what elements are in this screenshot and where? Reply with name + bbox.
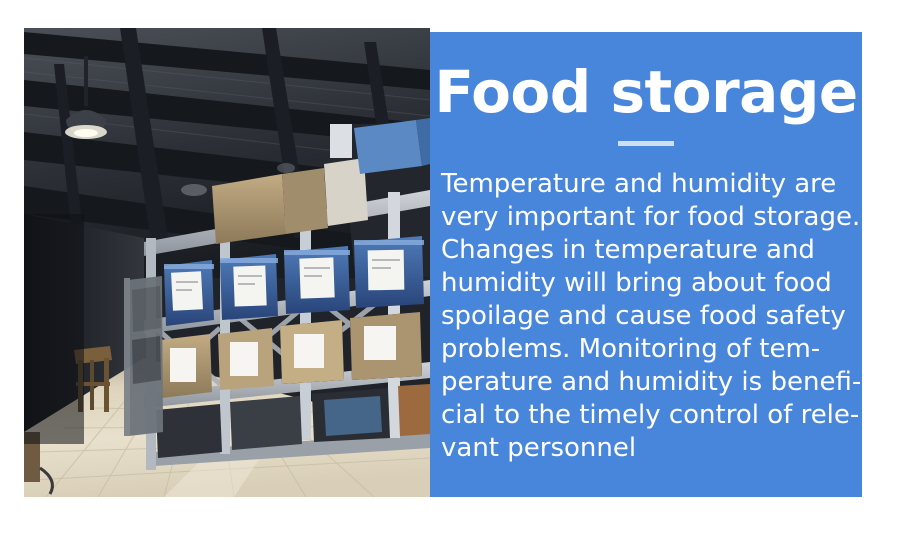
info-panel: Food storage Temperature and humidity ar…	[430, 32, 862, 497]
description-text: Temperature and humidity are very import…	[441, 168, 865, 465]
page-title: Food storage	[430, 62, 862, 123]
photo-illustration	[24, 28, 430, 497]
title-divider	[618, 141, 674, 146]
banner-canvas: Food storage Temperature and humidity ar…	[0, 0, 900, 534]
warehouse-interior-shelving-photo	[24, 28, 430, 497]
